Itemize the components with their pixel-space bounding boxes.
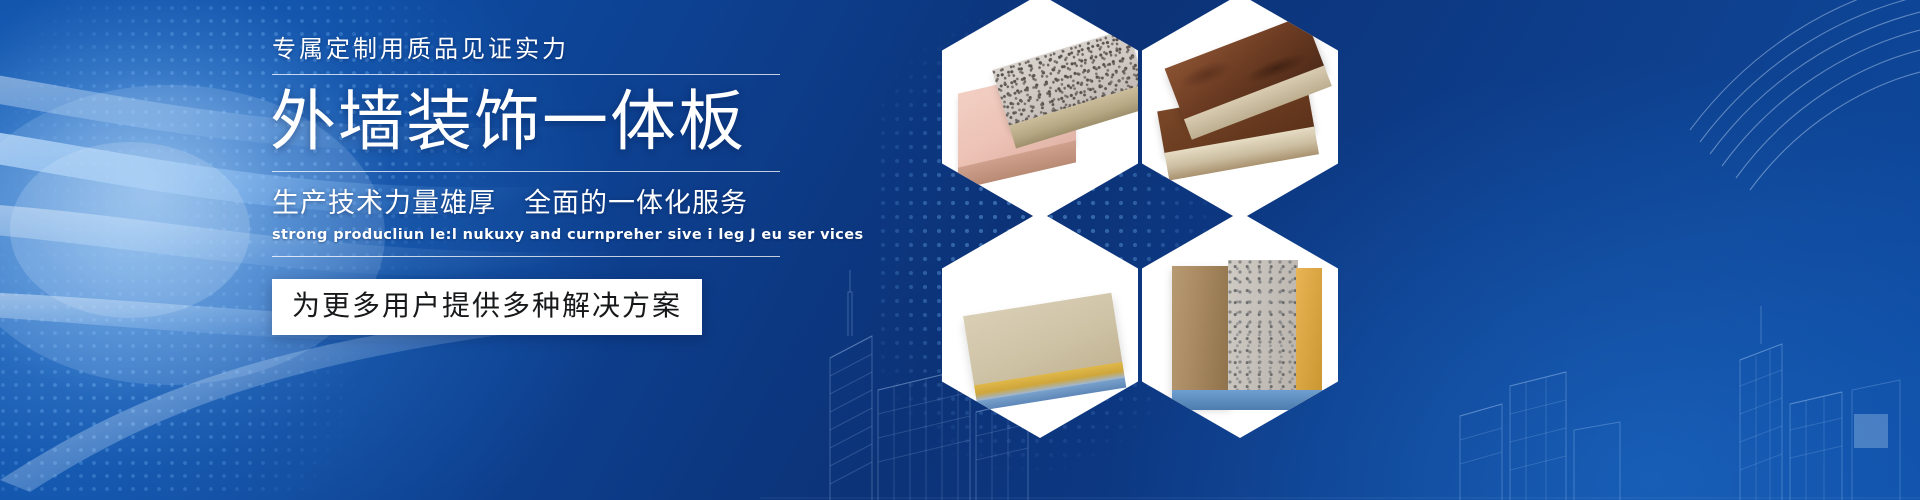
hex-product-beige-smooth-panel[interactable] — [942, 212, 1138, 438]
hex-product-layered-cross-section-panel[interactable] — [1142, 212, 1338, 438]
hex-product-granite-insulation-panel[interactable] — [942, 0, 1138, 220]
banner-subtitle: 生产技术力量雄厚 全面的一体化服务 — [272, 186, 892, 221]
beige-panel-shape — [963, 293, 1123, 390]
curved-line-arcs — [1500, 0, 1920, 240]
beige-smooth-panel-photo — [942, 212, 1138, 438]
layer-core-shape — [1172, 266, 1230, 406]
banner-subtitle-english: strong producliun le:l nukuxy and curnpr… — [272, 227, 892, 243]
layer-stone-shape — [1228, 260, 1298, 408]
brown-marble-panel-photo — [1142, 0, 1338, 220]
divider-middle — [272, 171, 780, 172]
hex-product-brown-marble-panel[interactable] — [1142, 0, 1338, 220]
banner-text-block: 专属定制用质品见证实力 外墙装饰一体板 生产技术力量雄厚 全面的一体化服务 st… — [272, 36, 892, 335]
layer-insulation-shape — [1296, 268, 1322, 406]
layered-cross-section-photo — [1142, 212, 1338, 438]
promo-banner: 专属定制用质品见证实力 外墙装饰一体板 生产技术力量雄厚 全面的一体化服务 st… — [0, 0, 1920, 500]
layer-base-shape — [1172, 390, 1324, 410]
product-hexagon-gallery — [930, 0, 1370, 500]
cta-wrapper: 为更多用户提供多种解决方案 — [272, 279, 892, 335]
divider-top — [272, 74, 780, 75]
cta-button[interactable]: 为更多用户提供多种解决方案 — [272, 279, 702, 335]
banner-tagline: 专属定制用质品见证实力 — [272, 36, 892, 62]
banner-headline: 外墙装饰一体板 — [270, 83, 892, 161]
divider-bottom — [272, 256, 780, 257]
granite-insulation-panel-photo — [942, 0, 1138, 220]
granite-panel-shape — [992, 29, 1138, 130]
